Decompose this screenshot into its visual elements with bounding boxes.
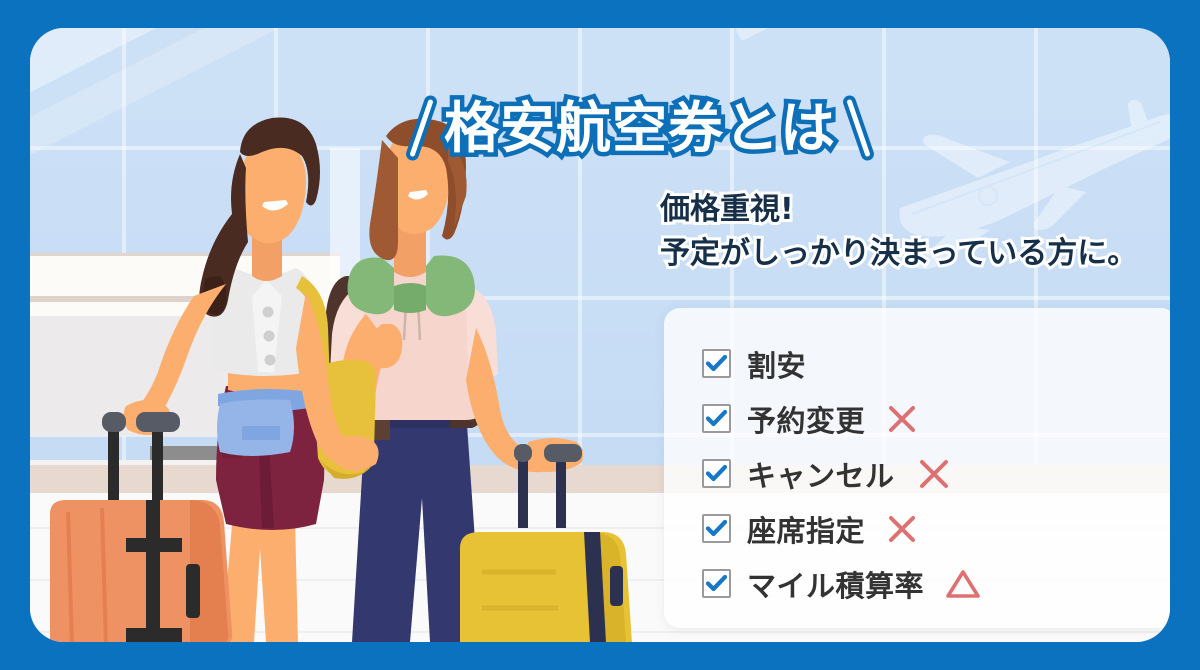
slash-decoration-left-icon: [404, 94, 438, 163]
checklist-item-label: 予約変更: [747, 398, 865, 440]
subtitle-block: 価格重視! 予定がしっかり決まっている方に。: [660, 188, 1170, 275]
checkbox-checked-icon[interactable]: [702, 459, 731, 488]
cross-mark-icon: [885, 512, 919, 546]
content-panel: 格安航空券とは 価格重視! 予定がしっかり決まっている方に。 割安 予約変更: [30, 28, 1170, 642]
checklist-item-label: マイル積算率: [747, 563, 924, 605]
checkbox-checked-icon[interactable]: [702, 514, 731, 543]
banner-title: 格安航空券とは: [360, 90, 920, 166]
title-text: 格安航空券とは: [444, 101, 836, 156]
triangle-mark-icon: [944, 567, 982, 601]
banner-frame: 格安航空券とは 価格重視! 予定がしっかり決まっている方に。 割安 予約変更: [0, 0, 1200, 670]
checkbox-checked-icon[interactable]: [702, 569, 731, 598]
checklist-item-label: 割安: [747, 343, 806, 385]
cross-mark-icon: [885, 402, 919, 436]
subtitle-line-1: 価格重視!: [660, 188, 1170, 232]
suitcase-orange: [50, 396, 270, 642]
checkbox-checked-icon[interactable]: [702, 404, 731, 433]
checklist-item[interactable]: 割安: [702, 336, 1170, 391]
subtitle-line-2: 予定がしっかり決まっている方に。: [660, 232, 1170, 276]
checklist-item-label: キャンセル: [747, 453, 895, 495]
feature-checklist-card: 割安 予約変更 キャンセル: [664, 308, 1170, 628]
checklist-item[interactable]: マイル積算率: [702, 556, 1170, 611]
slash-decoration-right-icon: [841, 94, 875, 163]
checklist-item[interactable]: 座席指定: [702, 501, 1170, 556]
suitcase-yellow: [460, 438, 690, 642]
cross-mark-icon: [915, 455, 953, 493]
checklist-item[interactable]: キャンセル: [702, 446, 1170, 501]
checklist-item-label: 座席指定: [747, 508, 865, 550]
checkbox-checked-icon[interactable]: [702, 349, 731, 378]
checklist-item[interactable]: 予約変更: [702, 391, 1170, 446]
